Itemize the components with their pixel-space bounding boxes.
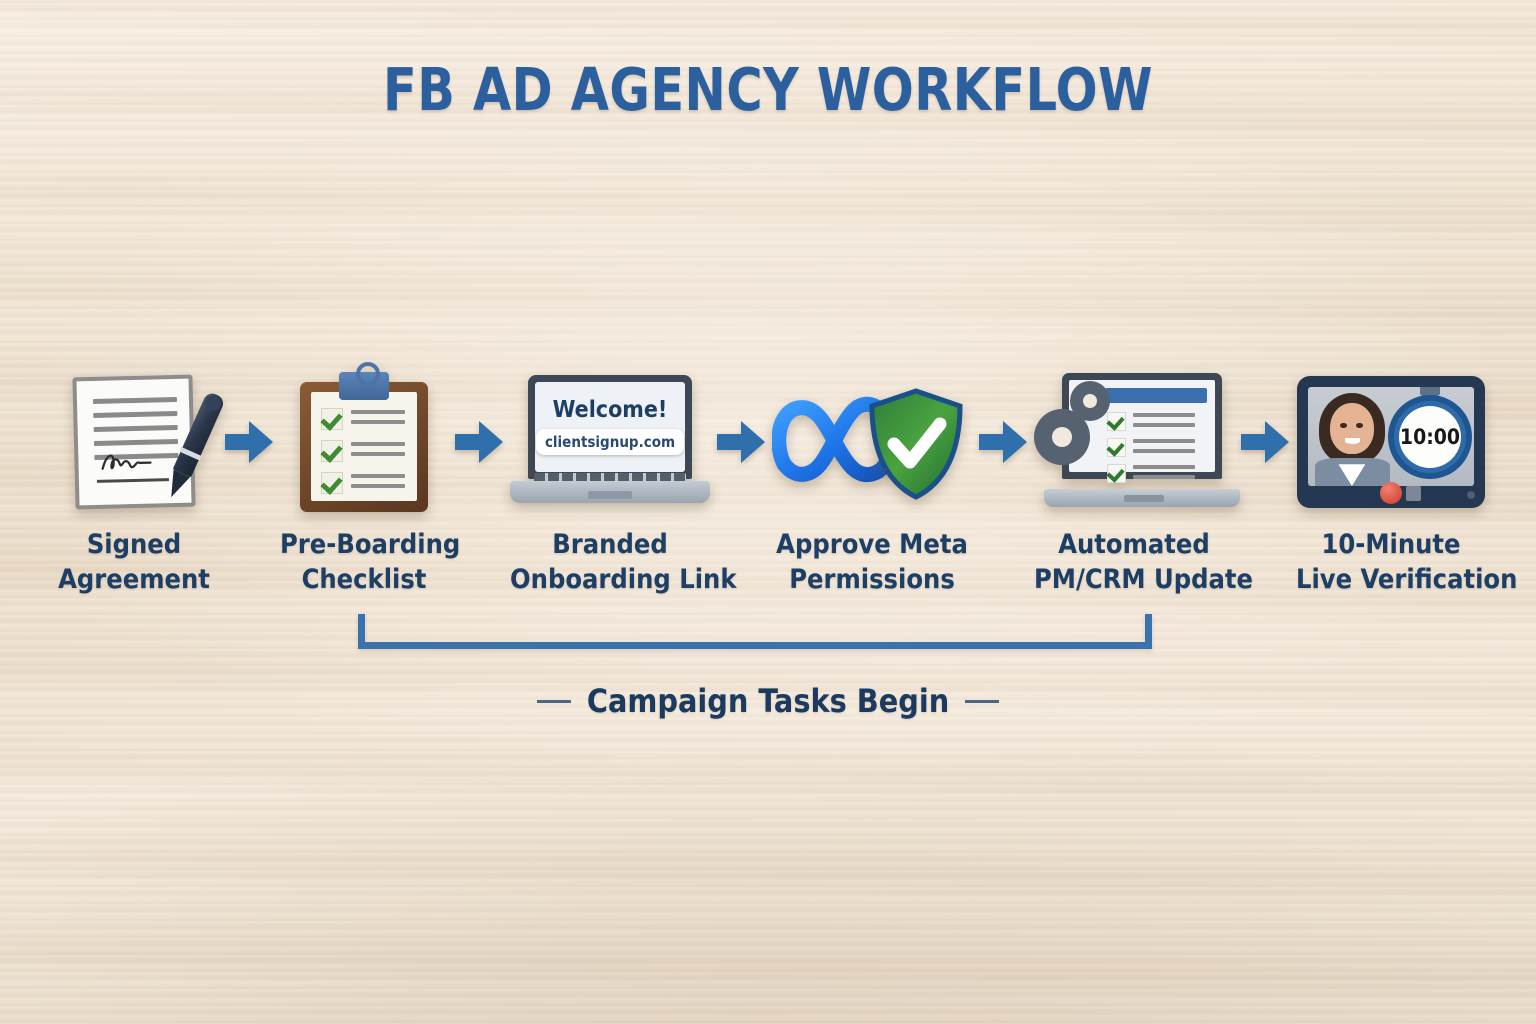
page-title: FB AD AGENCY WORKFLOW [54, 55, 1482, 124]
participant-avatar [1308, 387, 1398, 486]
laptop-welcome-screen-icon: Welcome! clientsignup.com [510, 375, 710, 509]
stopwatch-icon: 10:00 [1388, 395, 1472, 479]
dash-right-icon [965, 700, 999, 703]
laptop-trackpad [588, 491, 632, 499]
dash-left-icon [537, 700, 571, 703]
right-arrow-icon [1241, 421, 1289, 463]
green-shield-check-icon [868, 388, 964, 500]
laptop-gears-checklist-icon [1034, 373, 1234, 511]
right-arrow-icon [225, 421, 273, 463]
step-approve-meta-permissions[interactable] [772, 362, 972, 522]
label-signed-agreement: Signed Agreement [50, 528, 218, 597]
workflow-steps-row: Welcome! clientsignup.com [0, 362, 1536, 522]
label-approve-meta-permissions: Approve Meta Permissions [772, 528, 972, 597]
step-signed-agreement[interactable] [50, 362, 218, 522]
clipboard-clip-icon [339, 372, 389, 400]
arrow-3 [710, 362, 772, 522]
campaign-tasks-bracket [358, 614, 1152, 649]
laptop-trackpad [1124, 495, 1164, 502]
signature-scribble-icon [98, 447, 161, 475]
meta-logo-shield-check-icon [772, 378, 972, 506]
label-automated-pm-crm-update: Automated PM/CRM Update [1034, 528, 1234, 597]
step-pre-boarding-checklist[interactable] [280, 362, 448, 522]
right-arrow-icon [455, 421, 503, 463]
arrow-2 [448, 362, 510, 522]
campaign-tasks-label: Campaign Tasks Begin [587, 682, 949, 720]
welcome-heading: Welcome! [553, 399, 668, 422]
arrow-4 [972, 362, 1034, 522]
label-pre-boarding-checklist: Pre-Boarding Checklist [280, 528, 448, 597]
record-button[interactable] [1380, 482, 1402, 504]
campaign-tasks-caption: Campaign Tasks Begin [0, 682, 1536, 720]
label-branded-onboarding-link: Branded Onboarding Link [510, 528, 710, 597]
onboarding-url-pill[interactable]: clientsignup.com [536, 429, 684, 455]
share-screen-icon[interactable] [1406, 486, 1421, 501]
arrow-5 [1234, 362, 1296, 522]
gear-small-icon [1070, 381, 1110, 421]
signature-line [97, 478, 169, 483]
label-live-verification: 10-Minute Live Verification [1296, 528, 1486, 597]
step-branded-onboarding-link[interactable]: Welcome! clientsignup.com [510, 362, 710, 522]
step-live-verification[interactable]: 10:00 [1296, 362, 1486, 522]
clipboard-checklist-icon [300, 372, 428, 512]
timer-value: 10:00 [1399, 406, 1461, 468]
signed-document-with-pen-icon [74, 376, 194, 508]
right-arrow-icon [979, 421, 1027, 463]
step-labels-row: Signed Agreement Pre-Boarding Checklist … [0, 528, 1536, 597]
video-call-stopwatch-icon: 10:00 [1297, 376, 1485, 508]
app-header-bar [1105, 388, 1207, 403]
status-dot [1467, 491, 1475, 499]
step-automated-pm-crm-update[interactable] [1034, 362, 1234, 522]
arrow-1 [218, 362, 280, 522]
right-arrow-icon [717, 421, 765, 463]
